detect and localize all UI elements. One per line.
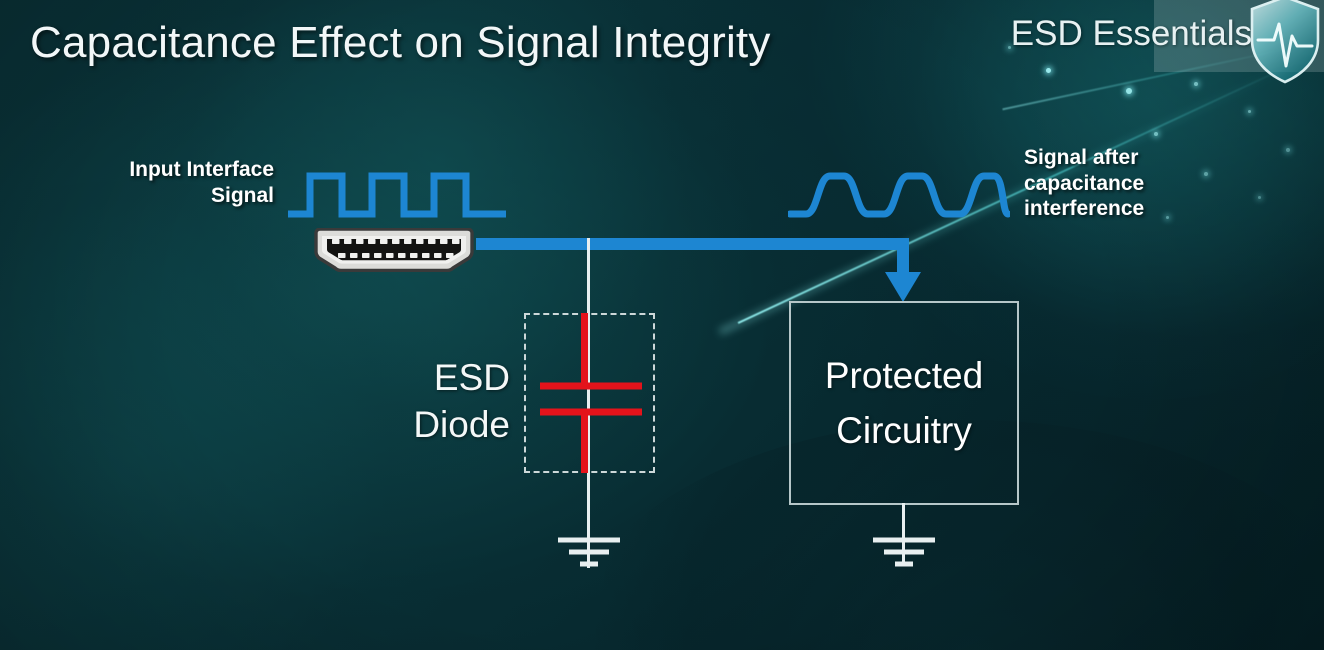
- ground-symbol-icon: [556, 535, 622, 571]
- sparkle: [1126, 88, 1132, 94]
- protected-circuitry-block: Protected Circuitry: [789, 301, 1019, 505]
- capacitor-symbol-icon: [524, 313, 655, 473]
- sparkle: [1204, 172, 1208, 176]
- sparkle: [1194, 82, 1198, 86]
- output-signal-label-line2: capacitance: [1024, 171, 1144, 197]
- esd-diode-label-line1: ESD: [330, 354, 510, 401]
- sparkle: [1258, 196, 1261, 199]
- brand-name: ESD Essentials: [1011, 14, 1252, 54]
- sparkle: [1166, 216, 1169, 219]
- output-signal-label-line3: interference: [1024, 196, 1144, 222]
- input-signal-label-line1: Input Interface: [0, 157, 274, 183]
- protected-circuitry-ground-wire: [899, 503, 908, 565]
- hdmi-connector-icon: [310, 228, 478, 272]
- signal-flow-arrow-icon: [460, 228, 930, 308]
- clean-square-wave-icon: [286, 168, 508, 222]
- sparkle: [1248, 110, 1251, 113]
- shield-pulse-icon: [1248, 0, 1322, 86]
- protected-circuitry-line1: Protected: [825, 348, 983, 404]
- input-signal-label-line2: Signal: [0, 183, 274, 209]
- esd-diode-label-line2: Diode: [330, 401, 510, 448]
- page-title: Capacitance Effect on Signal Integrity: [30, 18, 771, 68]
- sparkle: [1046, 68, 1051, 73]
- output-signal-label-line1: Signal after: [1024, 145, 1144, 171]
- slide-canvas: Capacitance Effect on Signal Integrity E…: [0, 0, 1324, 650]
- vignette-overlay: [0, 0, 1324, 650]
- output-signal-label: Signal after capacitance interference: [1024, 145, 1144, 222]
- esd-diode-label: ESD Diode: [330, 354, 510, 449]
- protected-circuitry-line2: Circuitry: [836, 403, 972, 459]
- sparkle: [1286, 148, 1290, 152]
- sparkle: [1154, 132, 1158, 136]
- rounded-degraded-wave-icon: [788, 168, 1010, 222]
- input-signal-label: Input Interface Signal: [0, 157, 274, 208]
